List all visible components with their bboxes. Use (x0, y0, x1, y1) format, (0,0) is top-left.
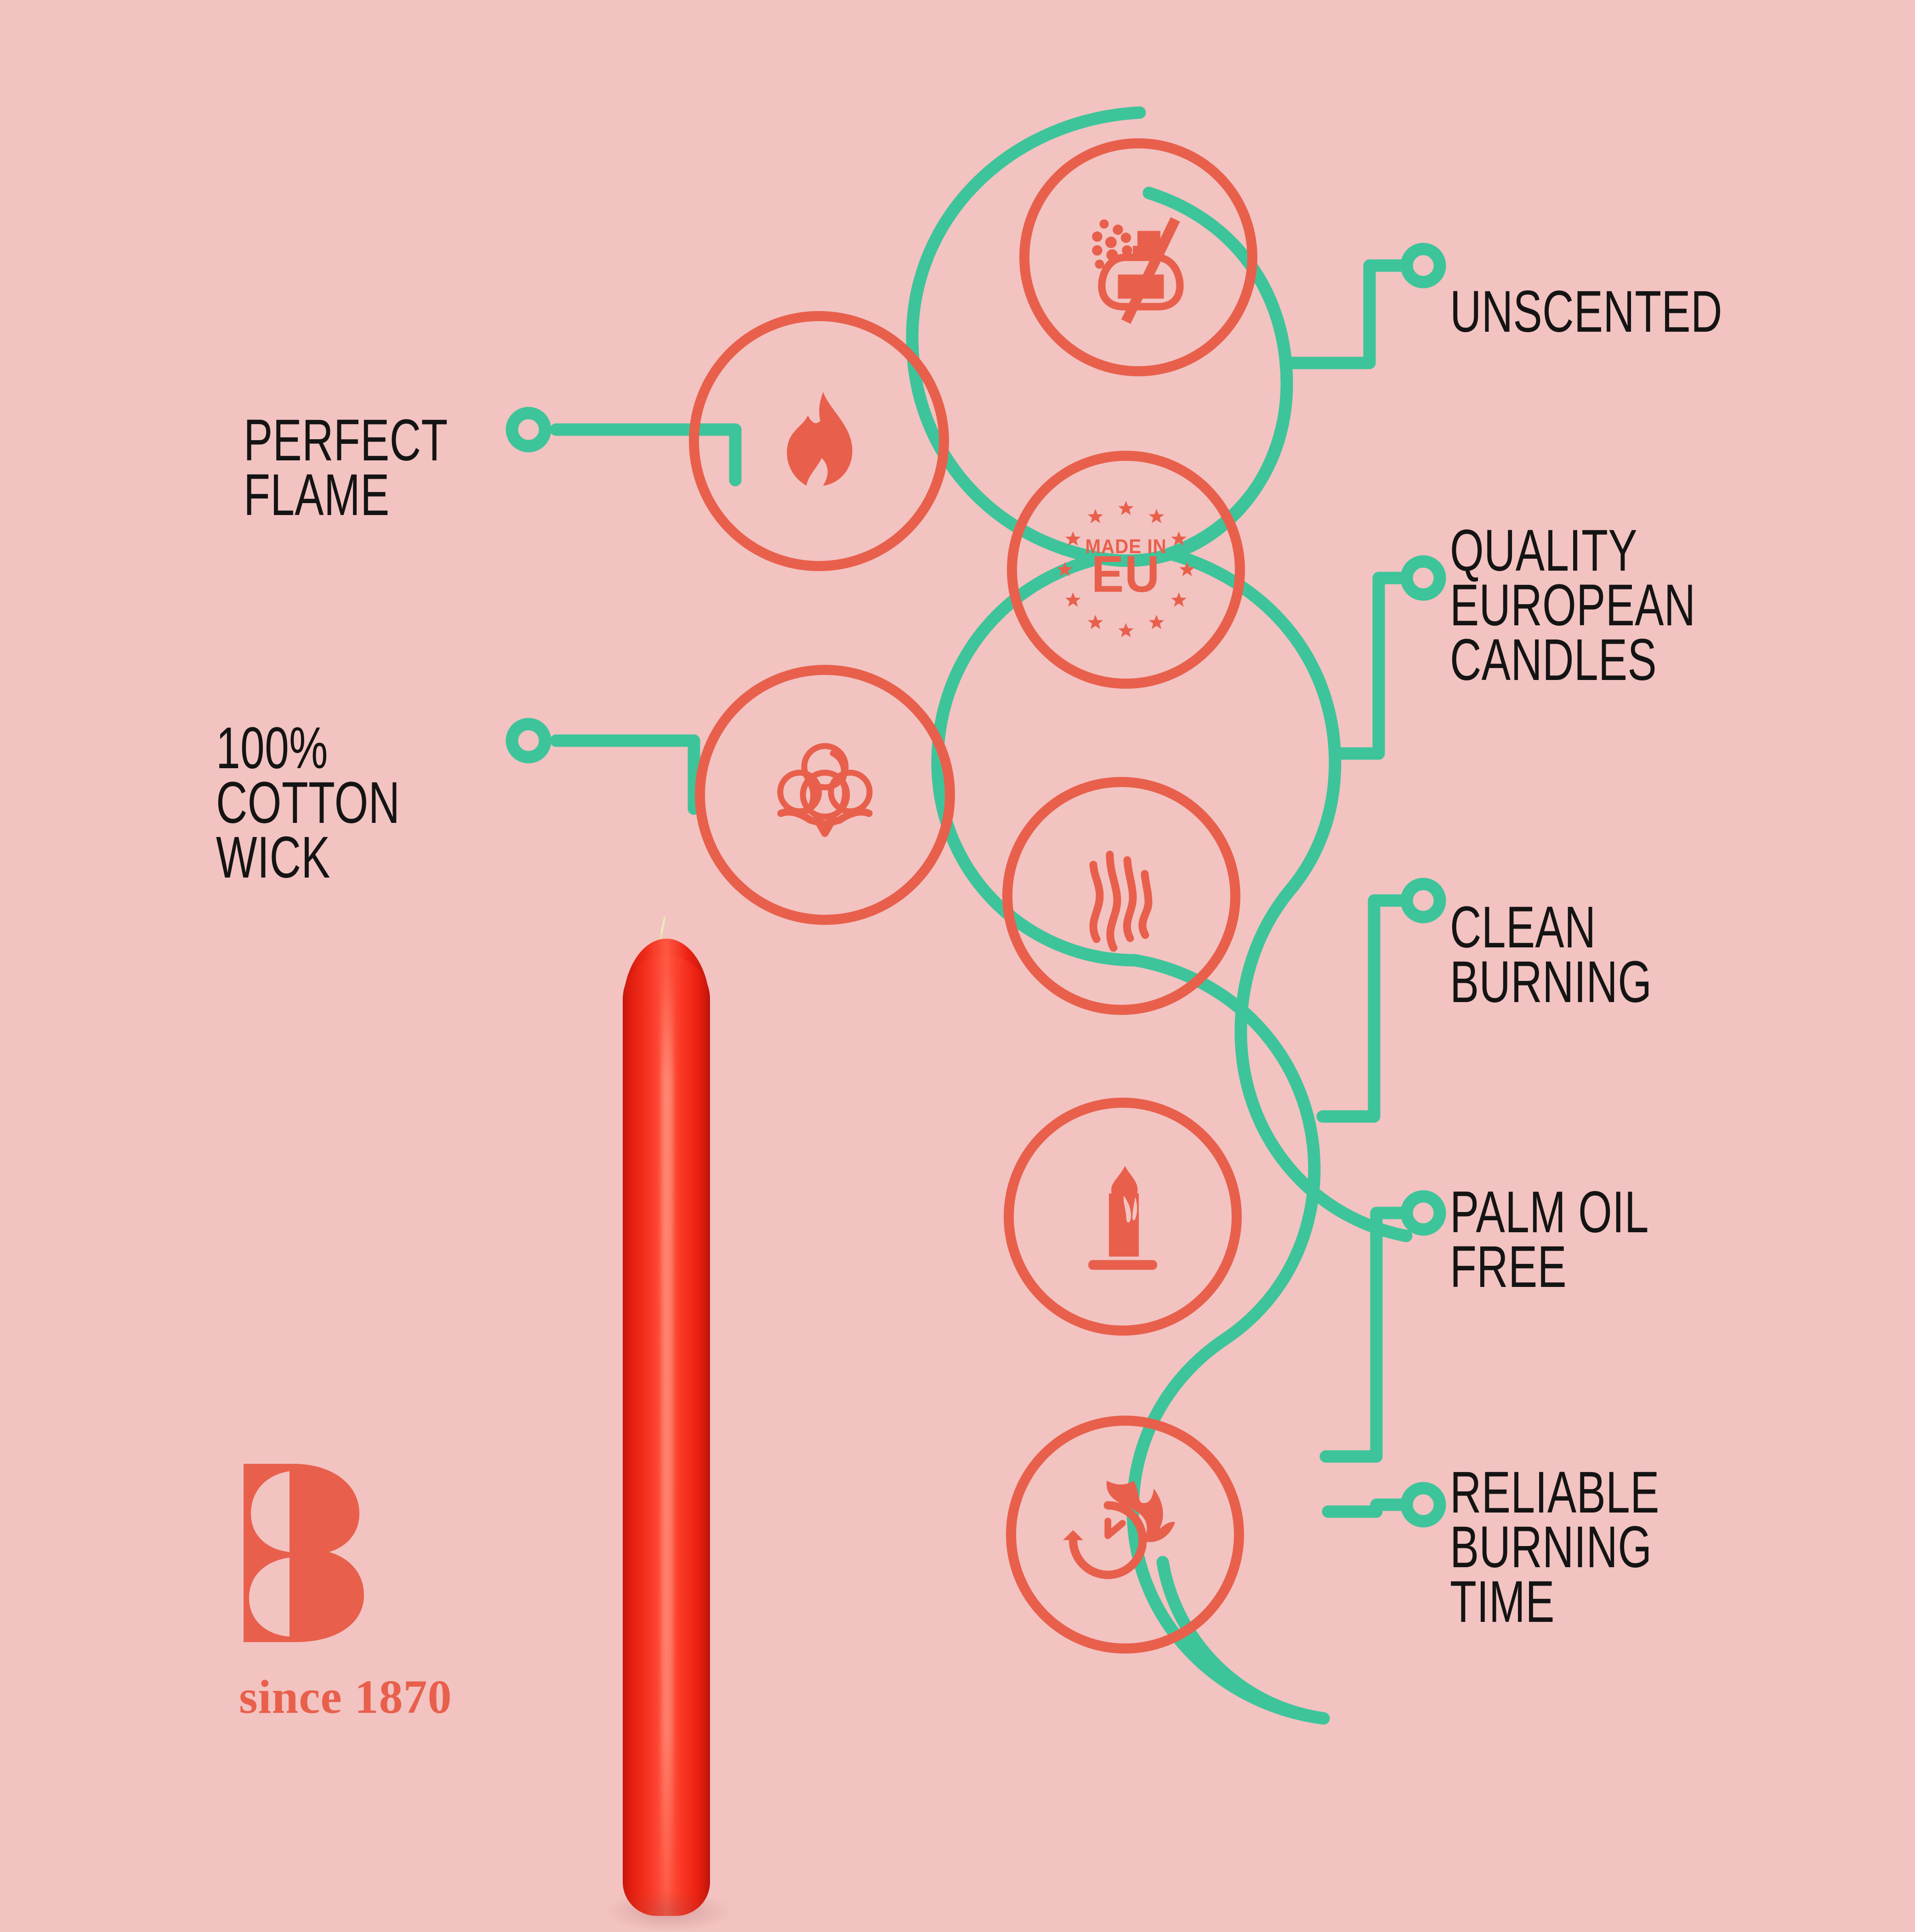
brand-tagline: since 1870 (239, 1673, 432, 1721)
label-cotton-wick-text: 100% COTTON WICK (216, 721, 400, 885)
label-reliable-burning-time: RELIABLE BURNING TIME (1450, 1411, 1733, 1684)
label-clean-burning: CLEAN BURNING (1450, 845, 1723, 1064)
label-quality-european-candles: QUALITY EUROPEAN CANDLES (1450, 469, 1782, 742)
clock-flame-icon (1063, 1481, 1175, 1575)
product-candle (623, 903, 733, 1932)
candle-highlight (661, 972, 673, 1900)
feature-circle-made-in-eu[interactable]: MADE IN EU (1012, 456, 1240, 684)
infographic-canvas: MADE IN EU (0, 0, 1915, 1915)
smoke-waves-icon (1093, 855, 1148, 948)
no-fragrance-icon (1092, 220, 1180, 322)
feature-circle-perfect-flame[interactable] (694, 316, 944, 566)
brand-logo: since 1870 (239, 1461, 432, 1721)
feature-circle-unscented[interactable] (1024, 143, 1252, 371)
made-in-eu-icon: MADE IN EU (1057, 501, 1195, 637)
letter-b-monogram-icon (239, 1461, 372, 1645)
label-quality-european-candles-text: QUALITY EUROPEAN CANDLES (1450, 523, 1696, 687)
flame-icon (787, 392, 852, 486)
label-perfect-flame: PERFECT FLAME (244, 358, 520, 577)
label-unscented: UNSCENTED (1450, 230, 1818, 394)
label-unscented-text: UNSCENTED (1450, 284, 1722, 339)
lit-candle-icon (1088, 1166, 1157, 1270)
label-palm-oil-free: PALM OIL FREE (1450, 1130, 1719, 1349)
eu-label: EU (1091, 546, 1160, 603)
feature-circle-palm-oil-free[interactable] (1009, 1103, 1237, 1331)
feature-circle-cotton-wick[interactable] (700, 670, 950, 920)
label-clean-burning-text: CLEAN BURNING (1450, 900, 1652, 1009)
candle-shadow (604, 1891, 733, 1932)
label-reliable-burning-time-text: RELIABLE BURNING TIME (1450, 1465, 1659, 1629)
feature-circle-clean-burning[interactable] (1007, 782, 1235, 1010)
label-palm-oil-free-text: PALM OIL FREE (1450, 1185, 1649, 1294)
label-cotton-wick: 100% COTTON WICK (216, 666, 465, 940)
cotton-boll-icon (780, 746, 869, 833)
feature-circle-reliable-burning-time[interactable] (1011, 1421, 1239, 1649)
label-perfect-flame-text: PERFECT FLAME (244, 413, 448, 522)
